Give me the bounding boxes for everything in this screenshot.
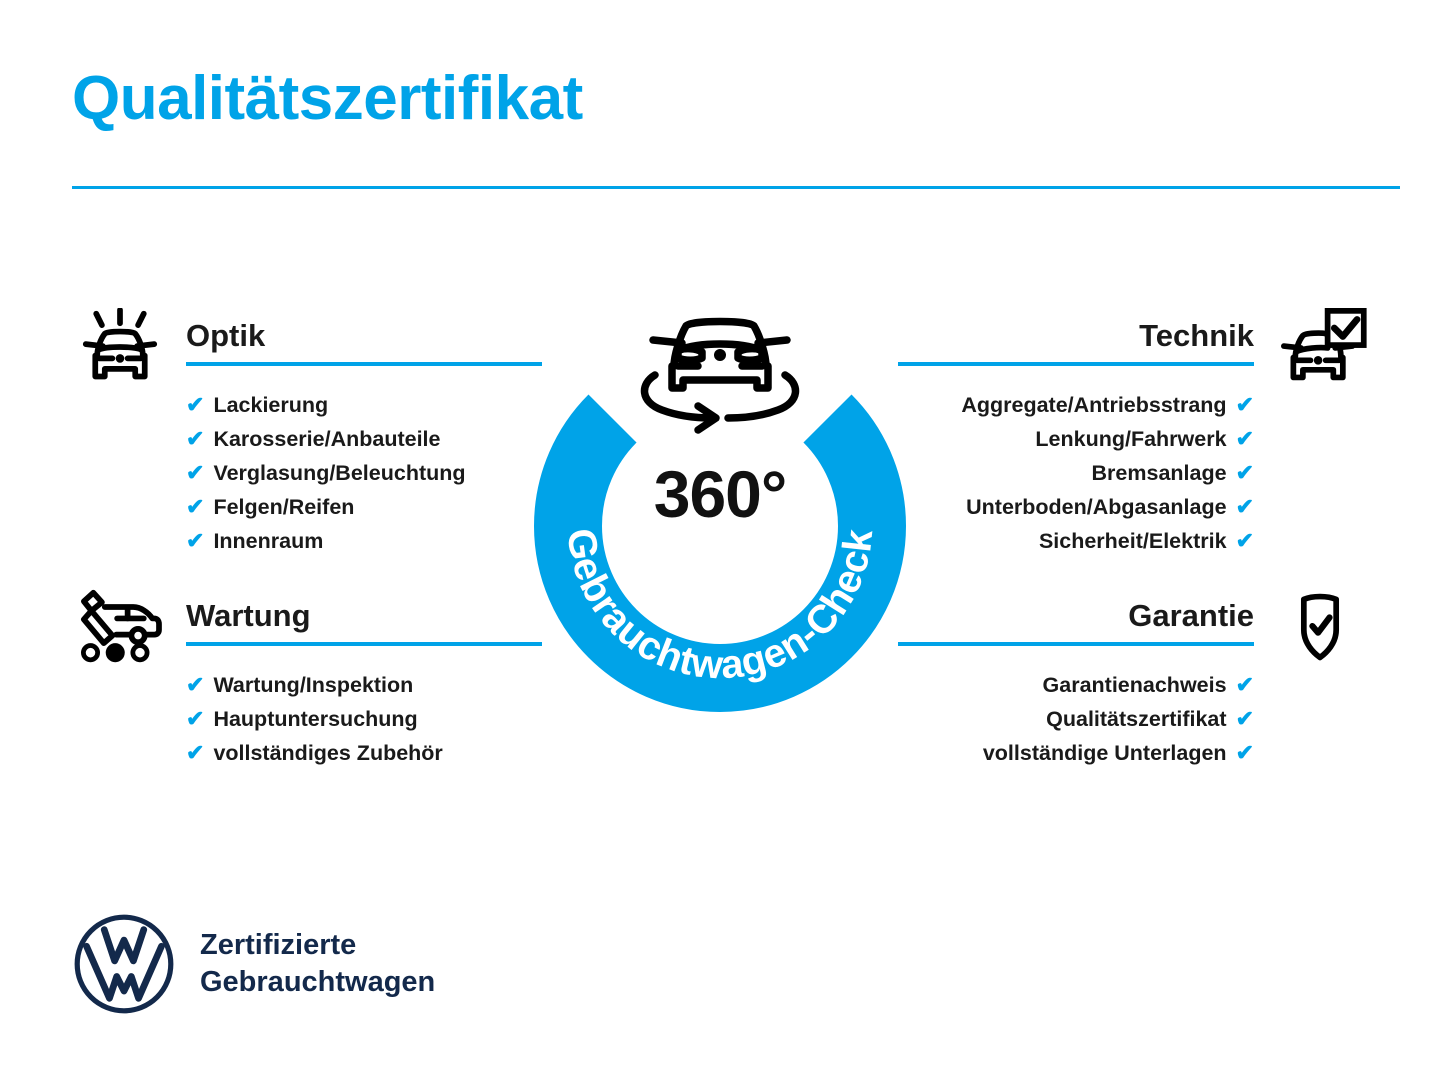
section-garantie-list: Garantienachweis ✔ Qualitätszertifikat ✔… <box>898 652 1254 770</box>
list-item: ✔ Felgen/Reifen <box>186 490 542 524</box>
volkswagen-logo <box>72 912 176 1016</box>
footer-brand-lockup: Zertifizierte Gebrauchtwagen <box>72 912 435 1016</box>
section-optik-divider <box>186 362 542 366</box>
title-divider <box>72 186 1400 189</box>
list-item-label: Aggregate/Antriebsstrang <box>961 388 1226 422</box>
list-item: Aggregate/Antriebsstrang ✔ <box>898 388 1254 422</box>
check-icon: ✔ <box>186 422 204 456</box>
check-icon: ✔ <box>186 736 204 770</box>
section-technik: Technik Aggregate/Antriebsstrang ✔ Lenku… <box>898 316 1368 558</box>
section-wartung-list: ✔ Wartung/Inspektion ✔ Hauptuntersuchung… <box>186 652 542 770</box>
list-item: Unterboden/Abgasanlage ✔ <box>898 490 1254 524</box>
section-garantie: Garantie Garantienachweis ✔ Qualitätszer… <box>898 596 1368 770</box>
check-icon: ✔ <box>1236 490 1254 524</box>
list-item-label: Garantienachweis <box>1043 668 1227 702</box>
section-technik-divider <box>898 362 1254 366</box>
check-icon: ✔ <box>1236 422 1254 456</box>
list-item-label: vollständige Unterlagen <box>983 736 1227 770</box>
section-optik-list: ✔ Lackierung ✔ Karosserie/Anbauteile ✔ V… <box>186 372 542 558</box>
list-item: ✔ Hauptuntersuchung <box>186 702 542 736</box>
car-service-pen-icon <box>72 588 168 666</box>
list-item: ✔ Karosserie/Anbauteile <box>186 422 542 456</box>
list-item: Lenkung/Fahrwerk ✔ <box>898 422 1254 456</box>
list-item: Sicherheit/Elektrik ✔ <box>898 524 1254 558</box>
check-icon: ✔ <box>186 456 204 490</box>
list-item: ✔ Verglasung/Beleuchtung <box>186 456 542 490</box>
list-item-label: Felgen/Reifen <box>213 490 354 524</box>
check-icon: ✔ <box>1236 702 1254 736</box>
list-item: Bremsanlage ✔ <box>898 456 1254 490</box>
check-icon: ✔ <box>186 524 204 558</box>
section-garantie-divider <box>898 642 1254 646</box>
section-technik-header: Technik <box>898 316 1368 372</box>
list-item-label: Verglasung/Beleuchtung <box>213 456 465 490</box>
car-front-checkbox-icon <box>1272 308 1368 386</box>
check-icon: ✔ <box>186 490 204 524</box>
check-icon: ✔ <box>186 702 204 736</box>
list-item-label: Lackierung <box>213 388 328 422</box>
list-item: Qualitätszertifikat ✔ <box>898 702 1254 736</box>
badge-number: 360° <box>520 456 920 532</box>
list-item-label: Unterboden/Abgasanlage <box>966 490 1226 524</box>
check-icon: ✔ <box>1236 524 1254 558</box>
list-item-label: Sicherheit/Elektrik <box>1039 524 1227 558</box>
list-item-label: Innenraum <box>213 524 323 558</box>
car-rotation-icon <box>645 322 796 431</box>
car-front-lights-icon <box>72 308 168 386</box>
list-item-label: vollständiges Zubehör <box>213 736 442 770</box>
section-optik-header: Optik <box>72 316 542 372</box>
check-icon: ✔ <box>1236 456 1254 490</box>
list-item: Garantienachweis ✔ <box>898 668 1254 702</box>
section-technik-list: Aggregate/Antriebsstrang ✔ Lenkung/Fahrw… <box>898 372 1254 558</box>
section-wartung-header: Wartung <box>72 596 542 652</box>
section-wartung-divider <box>186 642 542 646</box>
list-item-label: Wartung/Inspektion <box>213 668 413 702</box>
check-icon: ✔ <box>186 388 204 422</box>
list-item-label: Bremsanlage <box>1092 456 1227 490</box>
check-icon: ✔ <box>186 668 204 702</box>
list-item: vollständige Unterlagen ✔ <box>898 736 1254 770</box>
list-item-label: Hauptuntersuchung <box>213 702 417 736</box>
check-icon: ✔ <box>1236 668 1254 702</box>
section-optik: Optik ✔ Lackierung ✔ Karosserie/Anbautei… <box>72 316 542 558</box>
footer-line-2: Gebrauchtwagen <box>200 964 435 1001</box>
list-item-label: Qualitätszertifikat <box>1046 702 1226 736</box>
360-check-badge: Gebrauchtwagen-Check 360° <box>520 278 920 698</box>
list-item-label: Karosserie/Anbauteile <box>213 422 440 456</box>
page-title: Qualitätszertifikat <box>72 66 583 131</box>
shield-check-icon <box>1272 588 1368 666</box>
section-wartung: Wartung ✔ Wartung/Inspektion ✔ Hauptunte… <box>72 596 542 770</box>
footer-line-1: Zertifizierte <box>200 927 435 964</box>
check-icon: ✔ <box>1236 388 1254 422</box>
list-item: ✔ Wartung/Inspektion <box>186 668 542 702</box>
list-item: ✔ Innenraum <box>186 524 542 558</box>
check-icon: ✔ <box>1236 736 1254 770</box>
footer-brand-text: Zertifizierte Gebrauchtwagen <box>200 927 435 1001</box>
list-item-label: Lenkung/Fahrwerk <box>1035 422 1226 456</box>
list-item: ✔ Lackierung <box>186 388 542 422</box>
section-garantie-header: Garantie <box>898 596 1368 652</box>
list-item: ✔ vollständiges Zubehör <box>186 736 542 770</box>
